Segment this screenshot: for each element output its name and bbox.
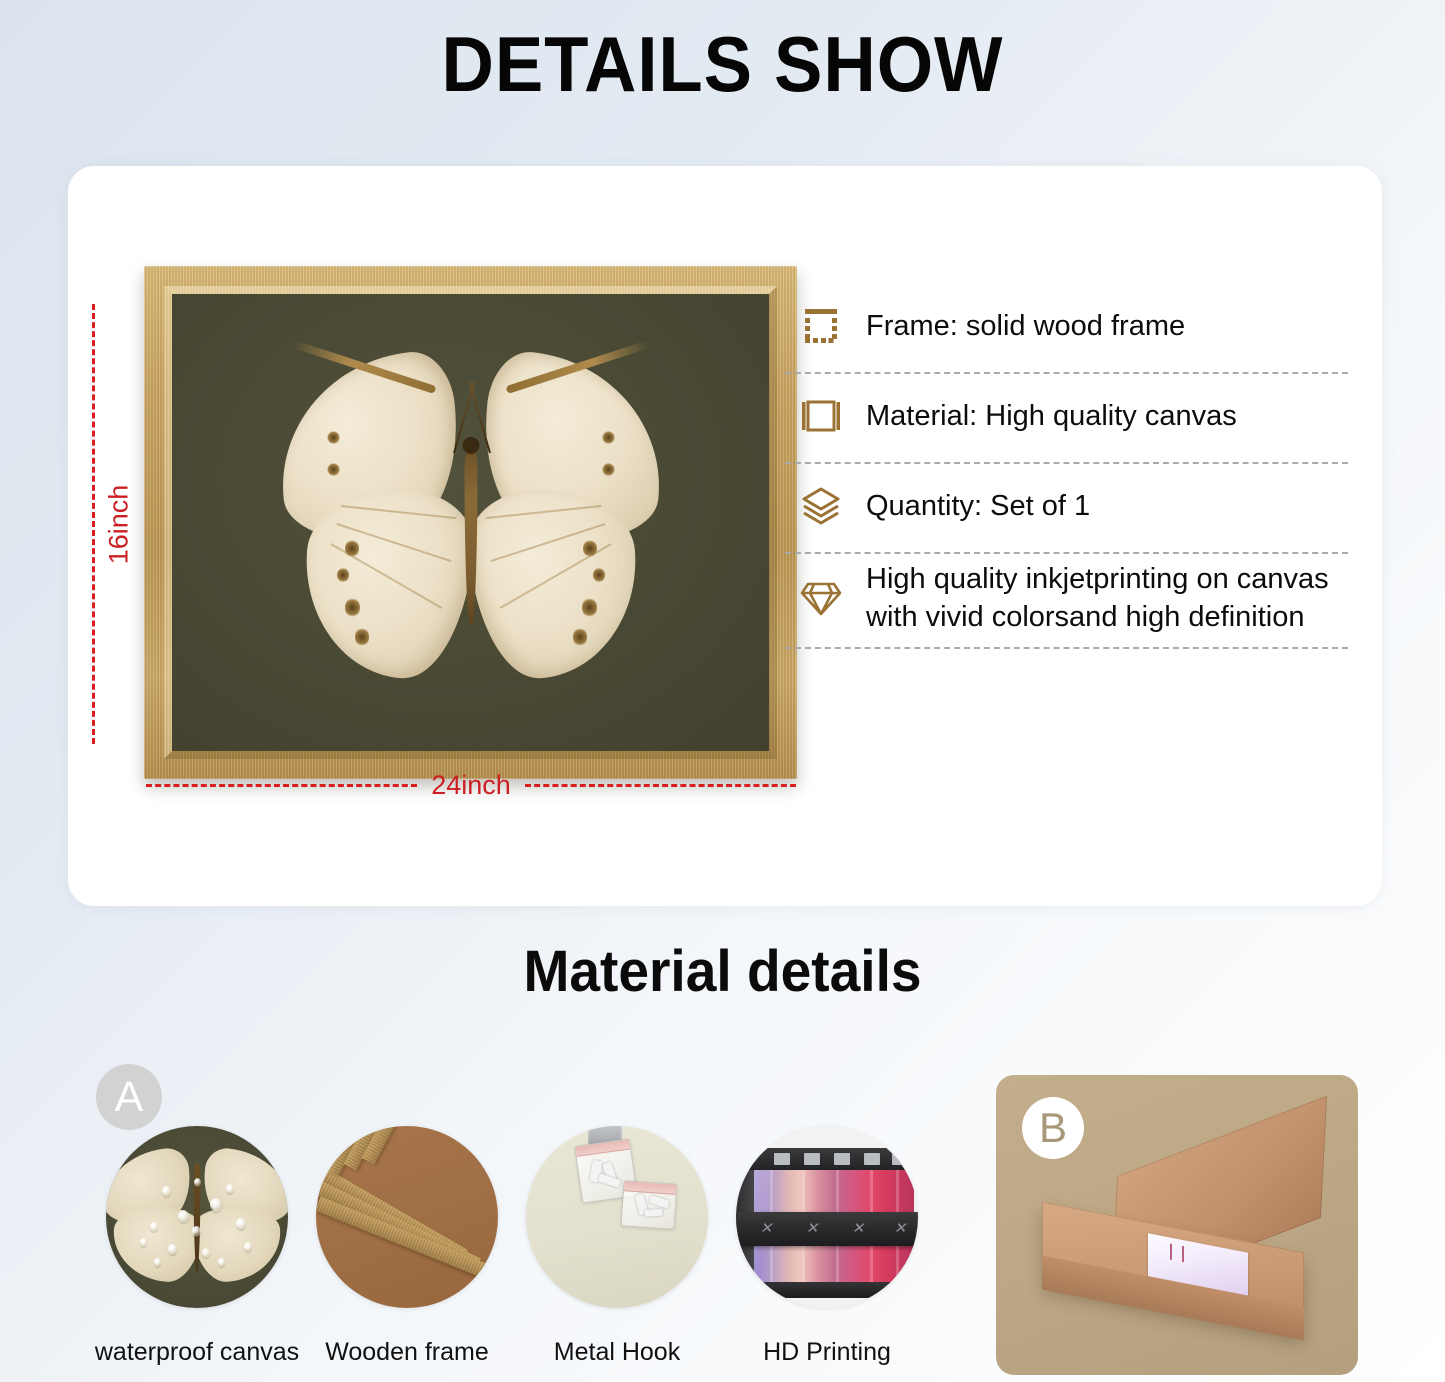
- feature-label-line2: with vivid colorsand high definition: [866, 601, 1304, 633]
- page-title: DETAILS SHOW: [51, 0, 1395, 106]
- thumb-waterproof-canvas: waterproof canvas: [92, 1126, 302, 1367]
- width-dimension-label: 24inch: [417, 770, 525, 801]
- wing-spot: [573, 627, 587, 647]
- feature-label: High quality inkjetprinting on canvas wi…: [866, 560, 1329, 637]
- thumb-wooden-frame: Wooden frame: [302, 1126, 512, 1367]
- dimension-dash-left: [146, 784, 417, 787]
- canvas-artwork: [172, 294, 769, 751]
- feature-label-line1: High quality inkjetprinting on canvas: [866, 563, 1329, 595]
- thumb-image-frame: [316, 1126, 498, 1308]
- thumb-hd-printing: ✕✕ ✕✕ HD Printing: [722, 1126, 932, 1367]
- material-thumbs: A: [92, 1060, 932, 1380]
- frame-icon: [798, 307, 844, 345]
- details-card: 16inch: [68, 166, 1382, 906]
- feature-label: Frame: solid wood frame: [866, 307, 1185, 345]
- thumb-caption: Metal Hook: [554, 1338, 680, 1367]
- thumb-caption: HD Printing: [763, 1338, 891, 1367]
- butterfly-illustration: [271, 353, 671, 693]
- butterfly-head: [462, 437, 479, 454]
- thumb-image-canvas: [106, 1126, 288, 1308]
- layers-icon: [798, 486, 844, 526]
- wing-spot: [327, 463, 340, 476]
- feature-item-quantity: Quantity: Set of 1: [783, 464, 1348, 552]
- wing-spot: [602, 463, 615, 476]
- wing-spot: [602, 431, 615, 444]
- thumb-image-printer: ✕✕ ✕✕: [736, 1126, 918, 1308]
- thumb-caption: waterproof canvas: [95, 1338, 299, 1367]
- wing-spot: [327, 431, 340, 444]
- wood-frame: [144, 266, 797, 779]
- feature-item-printing: High quality inkjetprinting on canvas wi…: [783, 554, 1348, 647]
- badge-b: B: [1022, 1097, 1084, 1159]
- butterfly-body: [464, 445, 477, 625]
- section-title: Material details: [36, 938, 1409, 1005]
- shipping-box-illustration: [1026, 1131, 1332, 1361]
- image-icon: [798, 398, 844, 434]
- packaging-panel: B: [996, 1075, 1358, 1375]
- width-dimension-marker: 24inch: [146, 770, 796, 801]
- dimension-dash-right: [525, 784, 796, 787]
- product-image-area: 16inch: [104, 246, 804, 806]
- wing-spot: [593, 567, 605, 583]
- diamond-icon: [798, 578, 844, 618]
- badge-a: A: [96, 1064, 162, 1130]
- feature-item-material: Material: High quality canvas: [783, 374, 1348, 462]
- feature-label: Quantity: Set of 1: [866, 487, 1090, 525]
- thumb-metal-hook: Metal Hook: [512, 1126, 722, 1367]
- feature-label: Material: High quality canvas: [866, 397, 1237, 435]
- height-dimension-label: 16inch: [97, 482, 140, 566]
- height-dimension-marker: 16inch: [92, 304, 122, 744]
- wing-spot: [337, 567, 349, 583]
- wing-spot: [355, 627, 369, 647]
- wing-spot: [345, 597, 360, 618]
- thumb-image-hook: [526, 1126, 708, 1308]
- feature-list: Frame: solid wood frame Material: High q…: [783, 284, 1348, 649]
- feature-divider: [785, 647, 1348, 649]
- thumb-caption: Wooden frame: [325, 1338, 489, 1367]
- wing-spot: [582, 597, 597, 618]
- feature-item-frame: Frame: solid wood frame: [783, 284, 1348, 372]
